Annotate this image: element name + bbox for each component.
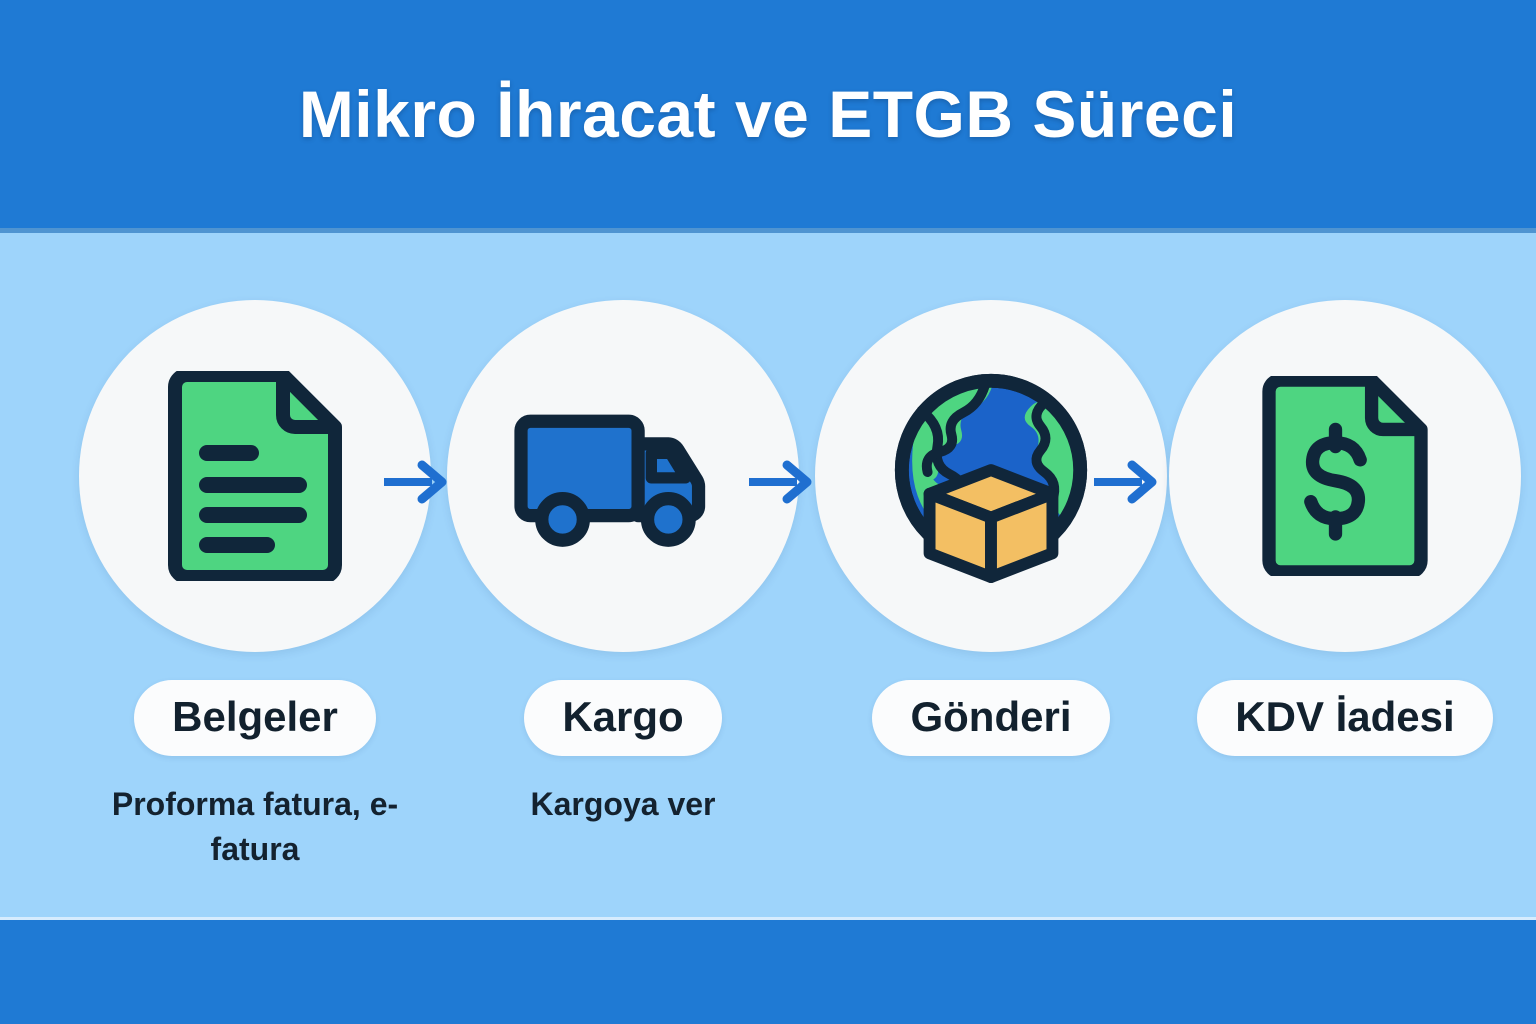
step-label-kdv-iadesi[interactable]: KDV İadesi — [1197, 680, 1492, 756]
arrow-right-icon-3 — [1092, 452, 1164, 512]
delivery-truck-icon — [509, 391, 737, 561]
step-gonderi[interactable]: Gönderi — [796, 300, 1186, 880]
step-kdv-iadesi[interactable]: KDV İadesi — [1150, 300, 1536, 880]
step-label-gonderi[interactable]: Gönderi — [872, 680, 1109, 756]
step-label-belgeler[interactable]: Belgeler — [134, 680, 376, 756]
globe-package-icon — [882, 367, 1100, 585]
step-caption-belgeler: Proforma fatura, e-fatura — [90, 782, 420, 870]
step-belgeler[interactable]: Belgeler Proforma fatura, e-fatura — [60, 300, 450, 880]
arrow-right-icon-1 — [382, 452, 454, 512]
process-steps: Belgeler Proforma fatura, e-fatura Kargo… — [60, 300, 1476, 880]
footer-band — [0, 920, 1536, 1024]
step-caption-kargo: Kargoya ver — [531, 782, 716, 826]
step-label-kargo[interactable]: Kargo — [524, 680, 721, 756]
step-kargo[interactable]: Kargo Kargoya ver — [428, 300, 818, 880]
document-lines-icon — [155, 371, 355, 581]
page-title: Mikro İhracat ve ETGB Süreci — [0, 0, 1536, 228]
step-icon-circle — [1169, 300, 1521, 652]
document-dollar-icon — [1250, 376, 1440, 576]
step-icon-circle — [79, 300, 431, 652]
infographic-canvas: Mikro İhracat ve ETGB Süreci Belgeler — [0, 0, 1536, 1024]
arrow-right-icon-2 — [747, 452, 819, 512]
